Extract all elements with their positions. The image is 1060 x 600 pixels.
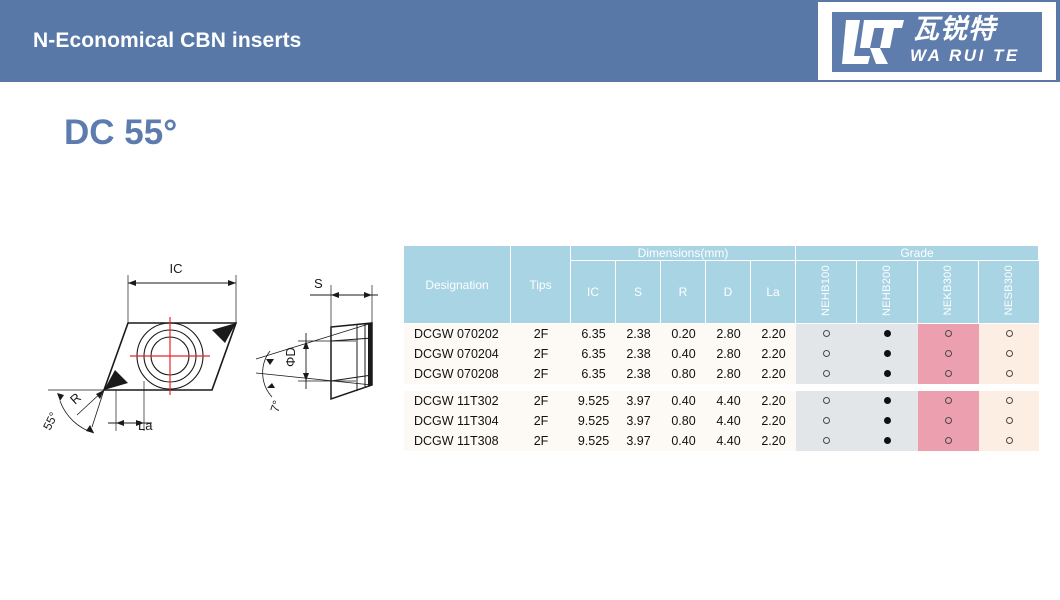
cell-la: 2.20 [751, 364, 796, 384]
open-circle-icon [945, 417, 952, 424]
open-circle-icon [945, 397, 952, 404]
table-row[interactable]: DCGW 0702082F6.352.380.802.802.20 [404, 364, 1039, 384]
cell-grade-nehb200 [857, 411, 918, 431]
open-circle-icon [945, 350, 952, 357]
cell-grade-nekb300 [918, 411, 979, 431]
cell-la: 2.20 [751, 391, 796, 411]
side-edge-fill [368, 323, 372, 387]
cell-grade-nehb100 [796, 344, 857, 364]
grade-label-nesb300: NESB300 [1003, 265, 1015, 315]
cell-d: 4.40 [706, 391, 751, 411]
cell-designation: DCGW 070204 [404, 344, 511, 364]
logo-chinese-text: 瓦锐特 [912, 14, 996, 46]
col-header-d: D [706, 261, 751, 324]
cell-s: 2.38 [616, 344, 661, 364]
cell-ic: 6.35 [571, 364, 616, 384]
col-header-grade-nekb300: NEKB300 [918, 261, 979, 324]
cell-la: 2.20 [751, 324, 796, 344]
filled-circle-icon [884, 370, 891, 377]
filled-circle-icon [884, 417, 891, 424]
open-circle-icon [823, 350, 830, 357]
cell-s: 3.97 [616, 411, 661, 431]
col-header-s: S [616, 261, 661, 324]
cell-la: 2.20 [751, 411, 796, 431]
cell-ic: 9.525 [571, 411, 616, 431]
open-circle-icon [823, 437, 830, 444]
cell-grade-nesb300 [979, 324, 1039, 344]
cell-grade-nesb300 [979, 391, 1039, 411]
label-la: La [138, 418, 153, 433]
filled-circle-icon [884, 350, 891, 357]
wat-monogram-icon [840, 18, 906, 66]
col-header-dimensions-group: Dimensions(mm) [571, 246, 796, 261]
cell-grade-nesb300 [979, 431, 1039, 451]
cell-tips: 2F [511, 411, 571, 431]
table-header: Designation Tips Dimensions(mm) Grade IC… [404, 246, 1039, 324]
company-logo: 瓦锐特 WA RUI TE [818, 2, 1056, 80]
col-header-grade-nehb200: NEHB200 [857, 261, 918, 324]
page-title: DC 55° [64, 113, 177, 153]
cell-r: 0.20 [661, 324, 706, 344]
filled-circle-icon [884, 330, 891, 337]
table-row[interactable]: DCGW 0702022F6.352.380.202.802.20 [404, 324, 1039, 344]
open-circle-icon [1006, 350, 1013, 357]
cell-grade-nesb300 [979, 411, 1039, 431]
cell-grade-nekb300 [918, 324, 979, 344]
cell-s: 2.38 [616, 324, 661, 344]
cell-tips: 2F [511, 344, 571, 364]
cell-d: 4.40 [706, 431, 751, 451]
cell-grade-nekb300 [918, 344, 979, 364]
table-header-row-1: Designation Tips Dimensions(mm) Grade [404, 246, 1039, 261]
logo-english-text: WA RUI TE [910, 46, 1020, 66]
cell-grade-nehb200 [857, 344, 918, 364]
cell-ic: 9.525 [571, 391, 616, 411]
cell-ic: 6.35 [571, 324, 616, 344]
cell-grade-nehb100 [796, 324, 857, 344]
cell-grade-nekb300 [918, 391, 979, 411]
label-angle-55: 55° [40, 410, 61, 433]
cell-tips: 2F [511, 364, 571, 384]
col-header-ic: IC [571, 261, 616, 324]
col-header-grade-nesb300: NESB300 [979, 261, 1039, 324]
cell-s: 3.97 [616, 431, 661, 451]
side-view-body [331, 323, 372, 399]
open-circle-icon [1006, 330, 1013, 337]
open-circle-icon [945, 437, 952, 444]
cell-grade-nehb100 [796, 364, 857, 384]
open-circle-icon [823, 417, 830, 424]
cell-grade-nehb200 [857, 324, 918, 344]
cell-r: 0.40 [661, 431, 706, 451]
cell-designation: DCGW 070202 [404, 324, 511, 344]
col-header-r: R [661, 261, 706, 324]
open-circle-icon [1006, 370, 1013, 377]
cell-ic: 9.525 [571, 431, 616, 451]
cell-designation: DCGW 070208 [404, 364, 511, 384]
cell-grade-nesb300 [979, 364, 1039, 384]
cell-s: 3.97 [616, 391, 661, 411]
cell-tips: 2F [511, 324, 571, 344]
cell-grade-nehb200 [857, 431, 918, 451]
cell-grade-nehb200 [857, 391, 918, 411]
cell-grade-nehb200 [857, 364, 918, 384]
col-header-tips: Tips [511, 246, 571, 324]
cell-r: 0.40 [661, 344, 706, 364]
open-circle-icon [945, 370, 952, 377]
insert-specification-table: Designation Tips Dimensions(mm) Grade IC… [404, 246, 1039, 451]
cell-r: 0.40 [661, 391, 706, 411]
cell-grade-nehb100 [796, 391, 857, 411]
label-angle-7: 7° [268, 398, 285, 413]
open-circle-icon [1006, 417, 1013, 424]
cell-grade-nehb100 [796, 431, 857, 451]
label-r: R [67, 390, 84, 407]
cell-ic: 6.35 [571, 344, 616, 364]
cell-grade-nehb100 [796, 411, 857, 431]
cell-designation: DCGW 11T308 [404, 431, 511, 451]
cell-r: 0.80 [661, 411, 706, 431]
cell-designation: DCGW 11T304 [404, 411, 511, 431]
cell-s: 2.38 [616, 364, 661, 384]
filled-circle-icon [884, 397, 891, 404]
label-phi-d: ΦD [283, 347, 298, 367]
cell-grade-nesb300 [979, 344, 1039, 364]
logo-panel: 瓦锐特 WA RUI TE [832, 12, 1042, 72]
open-circle-icon [1006, 397, 1013, 404]
grade-label-nehb200: NEHB200 [881, 265, 893, 316]
open-circle-icon [823, 370, 830, 377]
table-body: DCGW 0702022F6.352.380.202.802.20DCGW 07… [404, 324, 1039, 451]
open-circle-icon [823, 397, 830, 404]
table-row[interactable]: DCGW 11T3022F9.5253.970.404.402.20 [404, 391, 1039, 411]
table-row[interactable]: DCGW 0702042F6.352.380.402.802.20 [404, 344, 1039, 364]
cell-r: 0.80 [661, 364, 706, 384]
cell-d: 2.80 [706, 344, 751, 364]
cell-d: 2.80 [706, 324, 751, 344]
col-header-designation: Designation [404, 246, 511, 324]
cell-grade-nekb300 [918, 431, 979, 451]
col-header-grade-nehb100: NEHB100 [796, 261, 857, 324]
open-circle-icon [1006, 437, 1013, 444]
cell-la: 2.20 [751, 431, 796, 451]
open-circle-icon [823, 330, 830, 337]
cell-d: 2.80 [706, 364, 751, 384]
col-header-la: La [751, 261, 796, 324]
cell-tips: 2F [511, 431, 571, 451]
col-header-grade-group: Grade [796, 246, 1039, 261]
label-s: S [314, 276, 323, 291]
insert-technical-drawing: IC La R 55° S ΦD 7° [20, 255, 400, 465]
cell-d: 4.40 [706, 411, 751, 431]
cell-grade-nekb300 [918, 364, 979, 384]
table-row[interactable]: DCGW 11T3042F9.5253.970.804.402.20 [404, 411, 1039, 431]
filled-circle-icon [884, 437, 891, 444]
page-header-title: N-Economical CBN inserts [33, 29, 301, 53]
cell-designation: DCGW 11T302 [404, 391, 511, 411]
label-ic: IC [170, 261, 183, 276]
cell-la: 2.20 [751, 344, 796, 364]
grade-label-nehb100: NEHB100 [820, 265, 832, 316]
grade-label-nekb300: NEKB300 [942, 265, 954, 315]
cell-tips: 2F [511, 391, 571, 411]
open-circle-icon [945, 330, 952, 337]
table-row[interactable]: DCGW 11T3082F9.5253.970.404.402.20 [404, 431, 1039, 451]
table-group-separator [404, 384, 1039, 391]
